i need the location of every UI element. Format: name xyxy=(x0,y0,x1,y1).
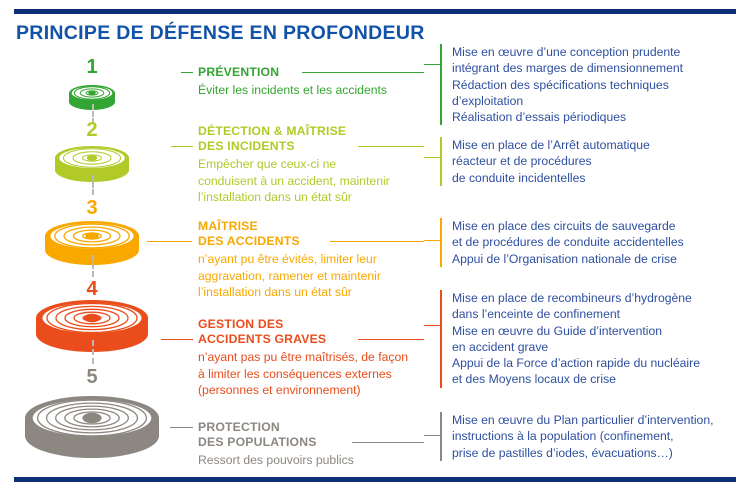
measure-line: dans l’enceinte de confinement xyxy=(452,306,700,322)
measure-line: Mise en œuvre du Guide d’intervention xyxy=(452,323,700,339)
level-body-line: aggravation, ramener et maintenir xyxy=(198,268,381,285)
level-description-3: n’ayant pu être évités, limiter leuraggr… xyxy=(198,251,381,301)
leader-right-3 xyxy=(330,241,424,242)
level-description-4: n’ayant pas pu être maîtrisés, de façonà… xyxy=(198,349,408,399)
level-body-line: Empêcher que ceux-ci ne xyxy=(198,156,390,173)
level-body-line: conduisent à un accident, maintenir xyxy=(198,173,390,190)
measure-line: Mise en place de l’Arrêt automatique xyxy=(452,137,650,153)
measure-line: en accident grave xyxy=(452,339,700,355)
level-body-line: l’installation dans un état sûr xyxy=(198,284,381,301)
level-text-block-2: DÉTECTION & MAÎTRISEDES INCIDENTS Empêch… xyxy=(198,124,390,206)
right-tick-2 xyxy=(424,157,440,158)
measure-line: prise de pastilles d’iodes, évacuations…… xyxy=(452,445,713,461)
measure-line: Appui de la Force d’action rapide du nuc… xyxy=(452,355,700,371)
measure-line: de conduite incidentelles xyxy=(452,170,650,186)
leader-left-1 xyxy=(181,72,193,73)
measure-line: et de procédures de conduite accidentell… xyxy=(452,234,684,250)
level-body-line: (personnes et environnement) xyxy=(198,382,408,399)
level-number-2: 2 xyxy=(72,120,112,140)
measure-line: d’exploitation xyxy=(452,93,683,109)
leader-right-2 xyxy=(358,146,424,147)
level-text-block-5: PROTECTIONDES POPULATIONS Ressort des po… xyxy=(198,420,354,469)
level-description-1: Éviter les incidents et les accidents xyxy=(198,82,387,99)
level-heading-line: GESTION DES xyxy=(198,317,408,332)
page-title: PRINCIPE DE DÉFENSE EN PROFONDEUR xyxy=(16,22,425,45)
measure-line: intégrant des marges de dimensionnement xyxy=(452,60,683,76)
level-body-line: n’ayant pu être évités, limiter leur xyxy=(198,251,381,268)
leader-left-3 xyxy=(147,241,192,242)
level-heading-2: DÉTECTION & MAÎTRISEDES INCIDENTS xyxy=(198,124,390,154)
level-heading-line: PROTECTION xyxy=(198,420,354,435)
measure-line: Rédaction des spécifications techniques xyxy=(452,77,683,93)
leader-left-4 xyxy=(161,339,193,340)
level-description-2: Empêcher que ceux-ci neconduisent à un a… xyxy=(198,156,390,206)
measure-line: Mise en place des circuits de sauvegarde xyxy=(452,218,684,234)
leader-left-5 xyxy=(170,427,193,428)
level-connector-3 xyxy=(92,255,94,277)
measure-line: Mise en œuvre du Plan particulier d’inte… xyxy=(452,412,713,428)
leader-right-5 xyxy=(352,442,424,443)
leader-right-4 xyxy=(358,339,424,340)
measure-line: Mise en place de recombineurs d’hydrogèn… xyxy=(452,290,700,306)
level-disc-5 xyxy=(19,390,165,464)
level-number-5: 5 xyxy=(72,367,112,387)
level-heading-5: PROTECTIONDES POPULATIONS xyxy=(198,420,354,450)
level-number-1: 1 xyxy=(72,57,112,77)
level-measures-5: Mise en œuvre du Plan particulier d’inte… xyxy=(440,412,713,461)
level-body-line: Ressort des pouvoirs publics xyxy=(198,452,354,469)
measure-line: Appui de l’Organisation nationale de cri… xyxy=(452,251,684,267)
measure-line: Mise en œuvre d’une conception prudente xyxy=(452,44,683,60)
level-text-block-4: GESTION DESACCIDENTS GRAVES n’ayant pas … xyxy=(198,317,408,399)
level-heading-line: DES POPULATIONS xyxy=(198,435,354,450)
level-body-line: l’installation dans un état sûr xyxy=(198,189,390,206)
right-tick-3 xyxy=(424,240,440,241)
right-tick-4 xyxy=(424,325,440,326)
measure-line: instructions à la population (confinemen… xyxy=(452,428,713,444)
level-measures-1: Mise en œuvre d’une conception prudentei… xyxy=(440,44,683,125)
level-body-line: à limiter les conséquences externes xyxy=(198,366,408,383)
level-measures-3: Mise en place des circuits de sauvegarde… xyxy=(440,218,684,267)
level-connector-2 xyxy=(92,175,94,195)
level-description-5: Ressort des pouvoirs publics xyxy=(198,452,354,469)
level-measures-2: Mise en place de l’Arrêt automatiqueréac… xyxy=(440,137,650,186)
level-heading-3: MAÎTRISEDES ACCIDENTS xyxy=(198,219,381,249)
level-heading-line: MAÎTRISE xyxy=(198,219,381,234)
measure-line: et des Moyens locaux de crise xyxy=(452,371,700,387)
bottom-divider-bar xyxy=(14,477,736,482)
level-text-block-1: PRÉVENTION Éviter les incidents et les a… xyxy=(198,65,387,99)
top-divider-bar xyxy=(14,9,736,14)
level-body-line: n’ayant pas pu être maîtrisés, de façon xyxy=(198,349,408,366)
level-text-block-3: MAÎTRISEDES ACCIDENTS n’ayant pu être év… xyxy=(198,219,381,301)
measure-line: réacteur et de procédures xyxy=(452,153,650,169)
leader-right-1 xyxy=(302,72,424,73)
level-body-line: Éviter les incidents et les accidents xyxy=(198,82,387,99)
level-heading-line: DÉTECTION & MAÎTRISE xyxy=(198,124,390,139)
level-heading-4: GESTION DESACCIDENTS GRAVES xyxy=(198,317,408,347)
infographic-root: PRINCIPE DE DÉFENSE EN PROFONDEUR 1 PRÉV… xyxy=(0,0,750,499)
level-measures-4: Mise en place de recombineurs d’hydrogèn… xyxy=(440,290,700,388)
right-tick-1 xyxy=(424,64,440,65)
level-connector-4 xyxy=(92,340,94,364)
right-tick-5 xyxy=(424,435,440,436)
leader-left-2 xyxy=(171,146,193,147)
measure-line: Réalisation d’essais périodiques xyxy=(452,109,683,125)
